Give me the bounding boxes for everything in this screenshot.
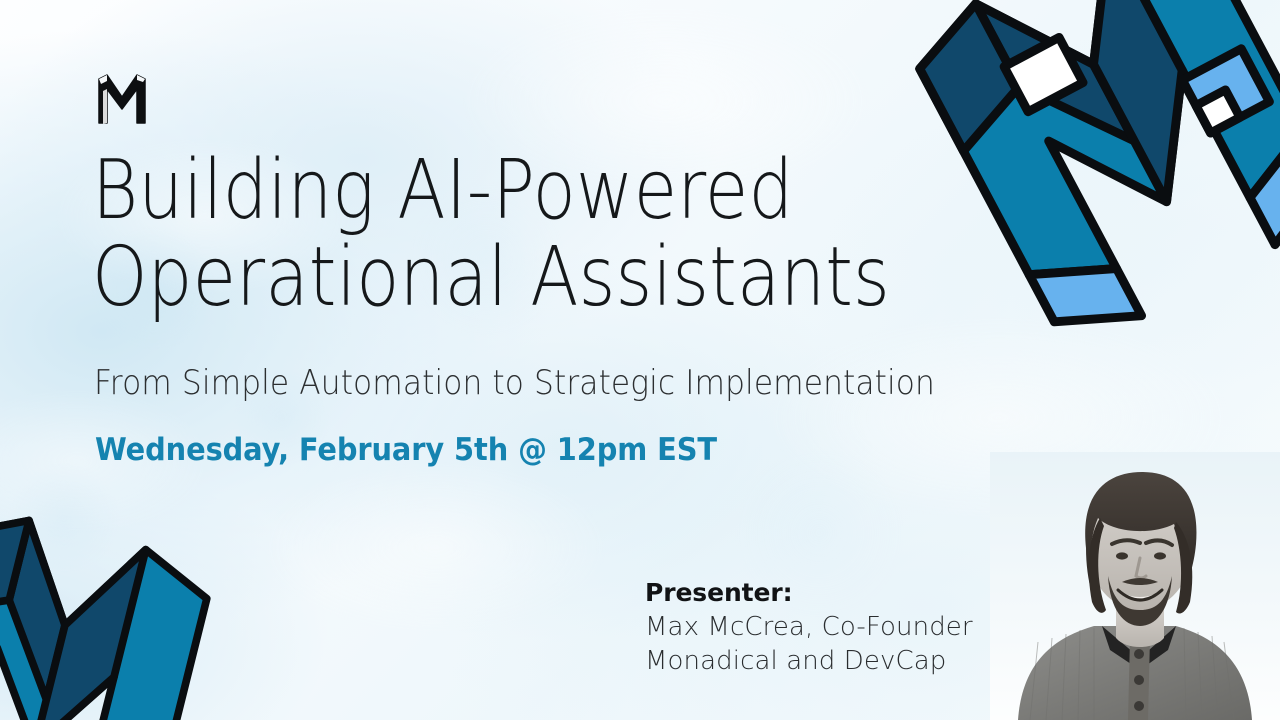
presenter-photo xyxy=(990,452,1280,720)
presenter-organization: Monadical and DevCap xyxy=(645,644,973,678)
page-title-line-2: Operational Assistants xyxy=(92,235,832,322)
page-title-line-1: Building AI-Powered xyxy=(92,148,832,235)
presenter-name: Max McCrea, Co-Founder xyxy=(645,610,973,644)
webinar-title-slide: Building AI-Powered Operational Assistan… xyxy=(0,0,1280,720)
event-datetime: Wednesday, February 5th @ 12pm EST xyxy=(95,432,717,468)
page-title: Building AI-Powered Operational Assistan… xyxy=(92,148,832,322)
presenter-label: Presenter: xyxy=(645,576,973,610)
page-subtitle: From Simple Automation to Strategic Impl… xyxy=(94,363,935,403)
monadical-m-monogram-icon xyxy=(95,71,149,129)
presenter-block: Presenter: Max McCrea, Co-Founder Monadi… xyxy=(645,576,973,678)
